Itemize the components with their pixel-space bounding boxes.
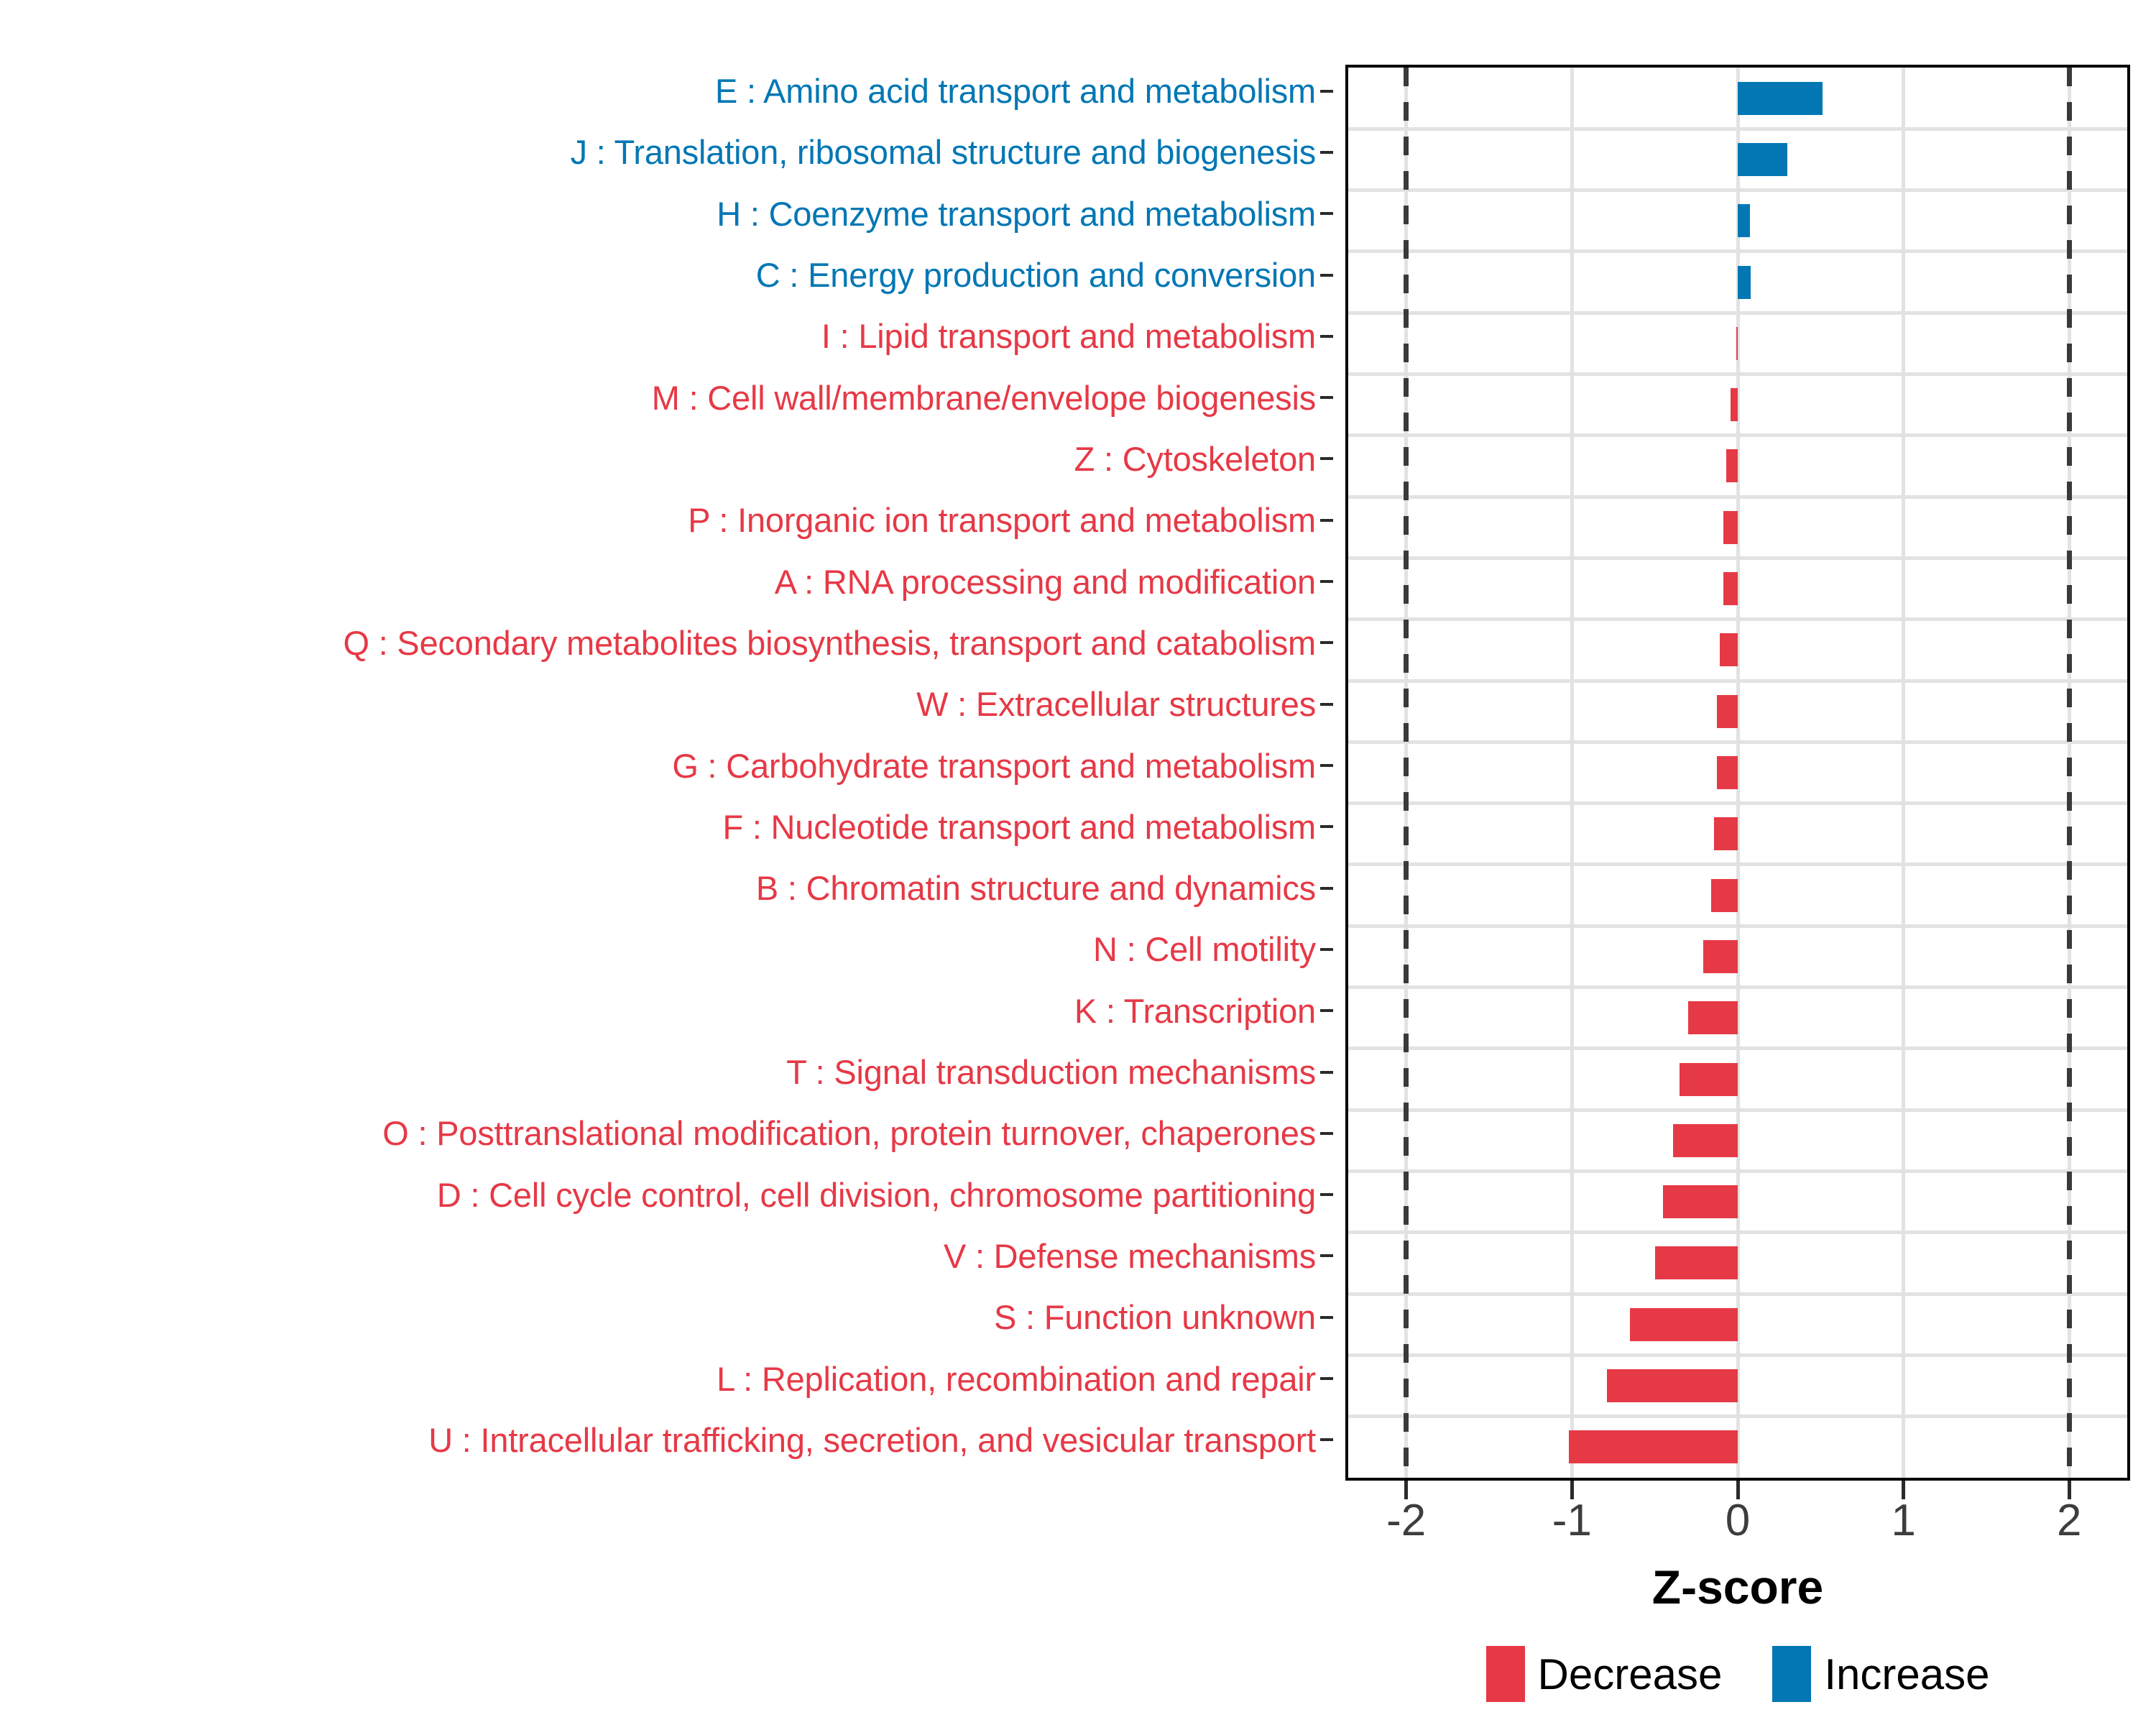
category-label: W : Extracellular structures xyxy=(916,674,1333,734)
bar xyxy=(1720,633,1738,666)
category-label-text: L : Replication, recombination and repai… xyxy=(717,1359,1316,1399)
y-axis-tick-mark xyxy=(1320,335,1333,338)
bar xyxy=(1738,266,1751,299)
bar xyxy=(1714,817,1738,850)
category-label-text: K : Transcription xyxy=(1074,991,1316,1031)
legend-label: Increase xyxy=(1824,1650,1989,1699)
y-axis-tick-mark xyxy=(1320,274,1333,277)
category-label-text: O : Posttranslational modification, prot… xyxy=(382,1113,1316,1153)
x-axis-tick-label: 2 xyxy=(2057,1495,2081,1546)
bar xyxy=(1655,1246,1738,1279)
bar xyxy=(1736,327,1738,360)
category-label: L : Replication, recombination and repai… xyxy=(717,1349,1333,1409)
category-label-text: M : Cell wall/membrane/envelope biogenes… xyxy=(652,378,1316,418)
category-label: V : Defense mechanisms xyxy=(944,1226,1333,1286)
bar xyxy=(1688,1001,1738,1034)
category-label-text: U : Intracellular trafficking, secretion… xyxy=(428,1420,1316,1460)
reference-line-2 xyxy=(2067,68,2072,1478)
bar xyxy=(1723,511,1738,544)
category-label-text: Q : Secondary metabolites biosynthesis, … xyxy=(343,623,1316,663)
y-axis-tick-mark xyxy=(1320,1438,1333,1441)
bar xyxy=(1738,204,1750,237)
category-label: D : Cell cycle control, cell division, c… xyxy=(437,1165,1333,1225)
category-label: Z : Cytoskeleton xyxy=(1074,429,1333,489)
bar xyxy=(1731,388,1738,421)
bar xyxy=(1673,1124,1738,1157)
y-axis-tick-mark xyxy=(1320,948,1333,951)
category-label: S : Function unknown xyxy=(994,1287,1333,1347)
category-label: G : Carbohydrate transport and metabolis… xyxy=(672,736,1333,796)
y-axis-tick-mark xyxy=(1320,1377,1333,1380)
y-axis-tick-mark xyxy=(1320,580,1333,583)
category-label: I : Lipid transport and metabolism xyxy=(821,306,1333,366)
category-label: Q : Secondary metabolites biosynthesis, … xyxy=(343,613,1333,673)
bar xyxy=(1711,879,1738,912)
bar xyxy=(1738,82,1823,115)
y-axis-tick-mark xyxy=(1320,519,1333,522)
category-label: K : Transcription xyxy=(1074,981,1333,1041)
bar xyxy=(1680,1063,1738,1096)
category-label-text: E : Amino acid transport and metabolism xyxy=(715,71,1316,111)
category-label-text: W : Extracellular structures xyxy=(916,684,1316,724)
bar xyxy=(1717,756,1738,789)
y-axis-tick-mark xyxy=(1320,90,1333,93)
bar xyxy=(1607,1369,1738,1402)
category-label-text: A : RNA processing and modification xyxy=(775,562,1316,602)
reference-line-neg2 xyxy=(1404,68,1409,1478)
y-axis-tick-mark xyxy=(1320,151,1333,154)
category-label-text: J : Translation, ribosomal structure and… xyxy=(571,132,1316,172)
category-label: C : Energy production and conversion xyxy=(756,245,1333,305)
category-label: H : Coenzyme transport and metabolism xyxy=(717,184,1333,244)
y-axis-tick-mark xyxy=(1320,764,1333,767)
category-label-text: F : Nucleotide transport and metabolism xyxy=(722,807,1316,847)
category-label: N : Cell motility xyxy=(1093,919,1333,979)
vertical-gridline xyxy=(1570,68,1574,1478)
chart-legend: DecreaseIncrease xyxy=(1345,1646,2130,1702)
category-label-text: S : Function unknown xyxy=(994,1297,1316,1337)
legend-item-increase[interactable]: Increase xyxy=(1772,1646,1989,1702)
category-label: T : Signal transduction mechanisms xyxy=(786,1042,1333,1102)
legend-swatch-increase xyxy=(1772,1646,1811,1702)
y-axis-tick-mark xyxy=(1320,887,1333,890)
category-label-text: I : Lipid transport and metabolism xyxy=(821,316,1316,356)
y-axis-tick-mark xyxy=(1320,1316,1333,1319)
y-axis-tick-mark xyxy=(1320,1254,1333,1257)
y-axis-tick-mark xyxy=(1320,703,1333,706)
x-axis-tick-label: -1 xyxy=(1552,1495,1592,1546)
y-axis-tick-mark xyxy=(1320,1071,1333,1074)
y-axis-tick-mark xyxy=(1320,641,1333,644)
y-axis-tick-mark xyxy=(1320,1132,1333,1135)
category-label-text: C : Energy production and conversion xyxy=(756,255,1316,295)
y-axis-tick-mark xyxy=(1320,212,1333,215)
category-label-text: B : Chromatin structure and dynamics xyxy=(756,868,1316,908)
legend-item-decrease[interactable]: Decrease xyxy=(1486,1646,1723,1702)
y-axis-tick-mark xyxy=(1320,1193,1333,1196)
category-label: F : Nucleotide transport and metabolism xyxy=(722,797,1333,857)
category-label: J : Translation, ribosomal structure and… xyxy=(571,122,1333,182)
category-label: O : Posttranslational modification, prot… xyxy=(382,1103,1333,1163)
bar xyxy=(1703,940,1738,973)
bar xyxy=(1726,449,1738,482)
category-label-text: D : Cell cycle control, cell division, c… xyxy=(437,1175,1316,1215)
category-label-text: N : Cell motility xyxy=(1093,929,1316,969)
category-label: P : Inorganic ion transport and metaboli… xyxy=(688,490,1333,550)
bar xyxy=(1717,695,1738,728)
bar xyxy=(1723,572,1738,605)
x-axis-tick-label: 1 xyxy=(1891,1495,1915,1546)
category-label-text: V : Defense mechanisms xyxy=(944,1236,1316,1276)
category-label: M : Cell wall/membrane/envelope biogenes… xyxy=(652,368,1333,428)
x-axis-tick-labels: -2-1012 xyxy=(1345,1495,2130,1552)
category-label-text: P : Inorganic ion transport and metaboli… xyxy=(688,500,1316,540)
vertical-gridline xyxy=(1902,68,1905,1478)
legend-label: Decrease xyxy=(1538,1650,1723,1699)
category-label-text: T : Signal transduction mechanisms xyxy=(786,1052,1316,1092)
plot-panel xyxy=(1345,65,2130,1481)
category-label-text: H : Coenzyme transport and metabolism xyxy=(717,194,1316,234)
category-label-text: G : Carbohydrate transport and metabolis… xyxy=(672,746,1316,786)
y-axis-tick-mark xyxy=(1320,1009,1333,1012)
bar xyxy=(1663,1185,1738,1218)
x-axis-tick-label: -2 xyxy=(1386,1495,1426,1546)
category-label: E : Amino acid transport and metabolism xyxy=(715,61,1333,121)
bar xyxy=(1569,1430,1738,1463)
y-axis-tick-mark xyxy=(1320,457,1333,460)
legend-swatch-decrease xyxy=(1486,1646,1525,1702)
y-axis-tick-mark xyxy=(1320,396,1333,399)
x-axis-tick-label: 0 xyxy=(1726,1495,1750,1546)
category-label: B : Chromatin structure and dynamics xyxy=(756,858,1333,918)
category-axis-labels: E : Amino acid transport and metabolismJ… xyxy=(0,57,1333,1477)
cog-zscore-chart: E : Amino acid transport and metabolismJ… xyxy=(0,0,2156,1725)
x-axis-title: Z-score xyxy=(1345,1560,2130,1614)
y-axis-tick-mark xyxy=(1320,825,1333,828)
bar xyxy=(1738,143,1787,176)
category-label: A : RNA processing and modification xyxy=(775,552,1333,612)
bar xyxy=(1630,1308,1738,1341)
category-label: U : Intracellular trafficking, secretion… xyxy=(428,1410,1333,1470)
category-label-text: Z : Cytoskeleton xyxy=(1074,439,1316,479)
